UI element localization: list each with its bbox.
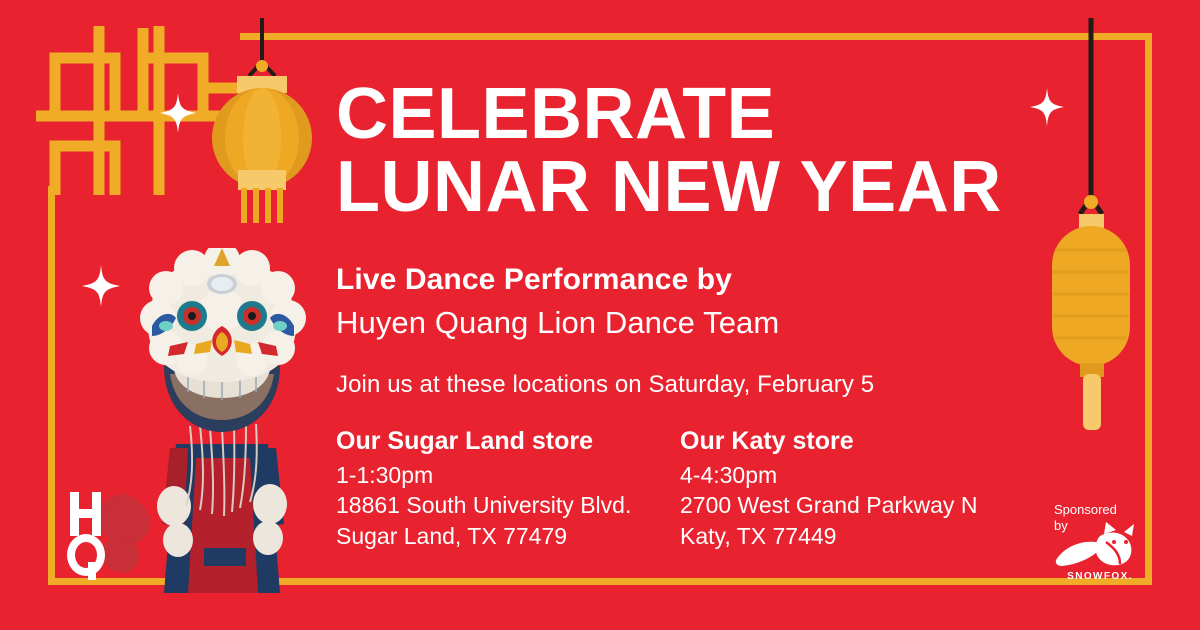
store-name: Our Sugar Land store <box>336 427 680 456</box>
poster-content: CELEBRATE LUNAR NEW YEAR Live Dance Perf… <box>336 78 1096 552</box>
store-address-line1: 2700 West Grand Parkway N <box>680 490 1024 521</box>
sponsor-label-line1: Sponsored <box>1054 502 1152 518</box>
store-list: Our Sugar Land store 1-1:30pm 18861 Sout… <box>336 427 1096 552</box>
lunar-new-year-poster: CELEBRATE LUNAR NEW YEAR Live Dance Perf… <box>0 0 1200 630</box>
store-sugar-land: Our Sugar Land store 1-1:30pm 18861 Sout… <box>336 427 680 552</box>
store-name: Our Katy store <box>680 427 1024 456</box>
sponsor-block: Sponsored by SNOWFOX. <box>1048 502 1152 582</box>
page-title: CELEBRATE LUNAR NEW YEAR <box>336 78 1096 225</box>
sparkle-icon <box>82 265 120 312</box>
sponsor-label-line2: by <box>1054 518 1152 534</box>
hq-logo <box>62 484 170 582</box>
store-address-line2: Sugar Land, TX 77479 <box>336 521 680 552</box>
store-time: 4-4:30pm <box>680 460 1024 491</box>
sparkle-icon <box>160 93 196 138</box>
performer-name: Huyen Quang Lion Dance Team <box>336 305 1096 341</box>
join-line: Join us at these locations on Saturday, … <box>336 371 1096 399</box>
store-address-line2: Katy, TX 77449 <box>680 521 1024 552</box>
sponsor-label: Sponsored by <box>1048 502 1152 536</box>
store-time: 1-1:30pm <box>336 460 680 491</box>
store-address-line1: 18861 South University Blvd. <box>336 490 680 521</box>
store-katy: Our Katy store 4-4:30pm 2700 West Grand … <box>680 427 1024 552</box>
performance-label: Live Dance Performance by <box>336 263 1096 297</box>
round-lantern-icon <box>205 18 320 228</box>
